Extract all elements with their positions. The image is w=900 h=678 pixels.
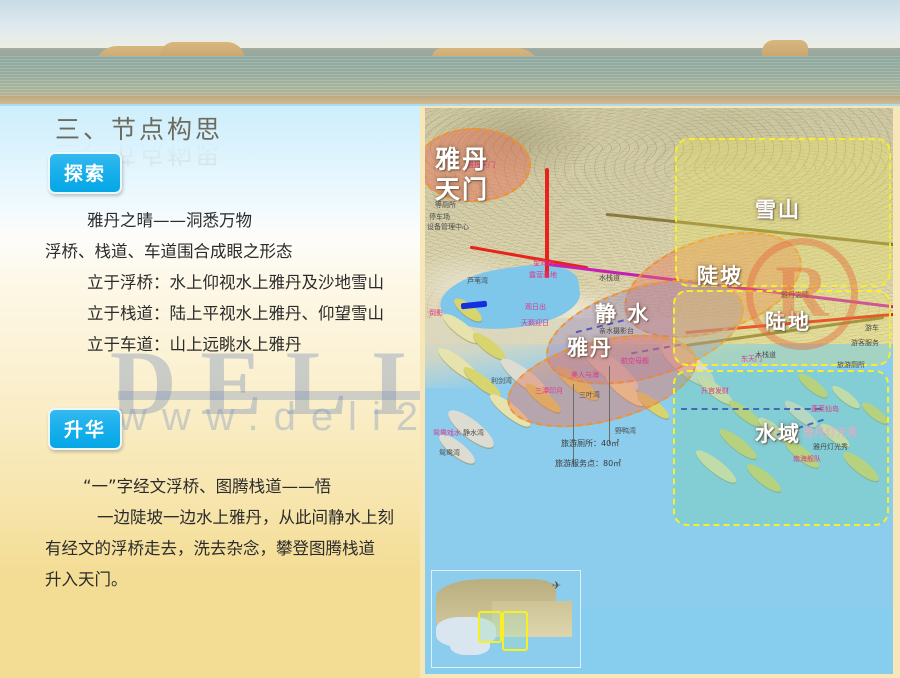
map-leader-line <box>573 384 574 466</box>
map-poi-label: 望海台 <box>533 258 554 268</box>
map-poi-label: 航空母舰 <box>621 356 649 366</box>
page-title: 三、节点构思 <box>55 110 223 146</box>
map-poi-label: 雅丹灯光秀 <box>813 442 848 452</box>
map-poi-label: 鸳鸯戏水 <box>433 428 461 438</box>
map-note: 旅游服务点：80㎡ <box>555 458 621 469</box>
explore-paragraph: 雅丹之晴——洞悉万物 浮桥、栈道、车道围合成眼之形态 立于浮桥：水上仰视水上雅丹… <box>45 205 384 360</box>
map-poi-label: 东天门 <box>741 354 762 364</box>
explore-line-2: 浮桥、栈道、车道围合成眼之形态 <box>45 236 384 267</box>
map-poi-label: 游车 <box>865 323 879 333</box>
map-poi-label: 游客服务 <box>851 338 879 348</box>
sublimate-line-3: 有经文的浮桥走去，洗去杂念，攀登图腾栈道 <box>45 533 394 564</box>
photo-sky <box>0 0 900 48</box>
map-poi-label: 三潭印月 <box>535 386 563 396</box>
map-poi-label: 观日出 <box>525 302 546 312</box>
badge-explore: 探索 <box>48 152 122 194</box>
inset-highlight-box <box>478 611 502 643</box>
map-poi-label: 利剑湾 <box>491 376 512 386</box>
map-poi-label: 美人与海 <box>571 370 599 380</box>
map-poi-label: 雅丹之晴 <box>781 290 809 300</box>
map-poi-label: 设备管理中心 <box>427 222 469 232</box>
map-poi-label: 芦苇湾 <box>467 276 488 286</box>
zone-label-land: 陆地 <box>765 306 811 336</box>
map-poi-label: 停车场 <box>429 212 450 222</box>
sublimate-paragraph: “一”字经文浮桥、图腾栈道——悟 一边陡坡一边水上雅丹，从此间静水上刻 有经文的… <box>45 471 394 595</box>
map-poi-label: 旅游厕所 <box>837 360 865 370</box>
map-inset-locator[interactable]: ✈ <box>431 570 581 668</box>
map-leader-line <box>609 366 610 444</box>
zone-label-still-water: 静 水 <box>595 298 650 328</box>
zone-label-snow-mountain: 雪山 <box>755 194 801 224</box>
map-poi-label: 天鹅迎日 <box>521 318 549 328</box>
map-poi-label: 蓬莱仙岛 <box>811 404 839 414</box>
map-poi-label: 露营基地 <box>529 270 557 280</box>
map-poi-label: 南海舰队 <box>793 454 821 464</box>
explore-line-3: 立于浮桥：水上仰视水上雅丹及沙地雪山 <box>45 267 384 298</box>
site-plan-map[interactable]: 雅丹天门 等厕所 停车场 设备管理中心 芦苇湾 观日出 望海台 露营基地 天鹅迎… <box>425 108 893 674</box>
explore-line-1: 雅丹之晴——洞悉万物 <box>45 205 384 236</box>
zone-label-yadan: 雅丹 <box>567 332 613 362</box>
zone-label-yadan-tianmen-line2: 天门 <box>435 170 489 206</box>
map-poi-label: 倒影 <box>429 308 443 318</box>
explore-line-4: 立于栈道：陆上平视水上雅丹、仰望雪山 <box>45 298 384 329</box>
map-poi-label-lightshow: 雅丹灯光秀 <box>803 424 858 440</box>
map-poi-label: 水栈道 <box>599 273 620 283</box>
map-note: 旅游厕所：40㎡ <box>561 438 619 449</box>
map-poi-label: 鸳鸯湾 <box>439 448 460 458</box>
sublimate-line-2: 一边陡坡一边水上雅丹，从此间静水上刻 <box>45 502 394 533</box>
sublimate-line-4: 升入天门。 <box>45 564 394 595</box>
zone-label-water-area: 水域 <box>755 418 801 448</box>
map-poi-label: 野鸭湾 <box>615 426 636 436</box>
inset-highlight-box <box>502 611 528 651</box>
header-photo-banner <box>0 0 900 106</box>
sublimate-line-1: “一”字经文浮桥、图腾栈道——悟 <box>45 471 394 502</box>
explore-line-5: 立于车道：山上远眺水上雅丹 <box>45 329 384 360</box>
map-poi-label: 升官发财 <box>701 386 729 396</box>
badge-sublimate: 升华 <box>48 408 122 450</box>
map-basemap: 雅丹天门 等厕所 停车场 设备管理中心 芦苇湾 观日出 望海台 露营基地 天鹅迎… <box>425 108 893 608</box>
zone-label-slope: 陡坡 <box>697 260 743 290</box>
map-poi-label: 静水湾 <box>463 428 484 438</box>
site-plan-map-frame: 雅丹天门 等厕所 停车场 设备管理中心 芦苇湾 观日出 望海台 露营基地 天鹅迎… <box>420 106 900 678</box>
airport-icon: ✈ <box>552 579 561 592</box>
slide-canvas: 三、节点构思 三、节点构思 DELI www.deli2005.com 探索 雅… <box>0 0 900 678</box>
map-poi-label: 三叶湾 <box>579 390 600 400</box>
